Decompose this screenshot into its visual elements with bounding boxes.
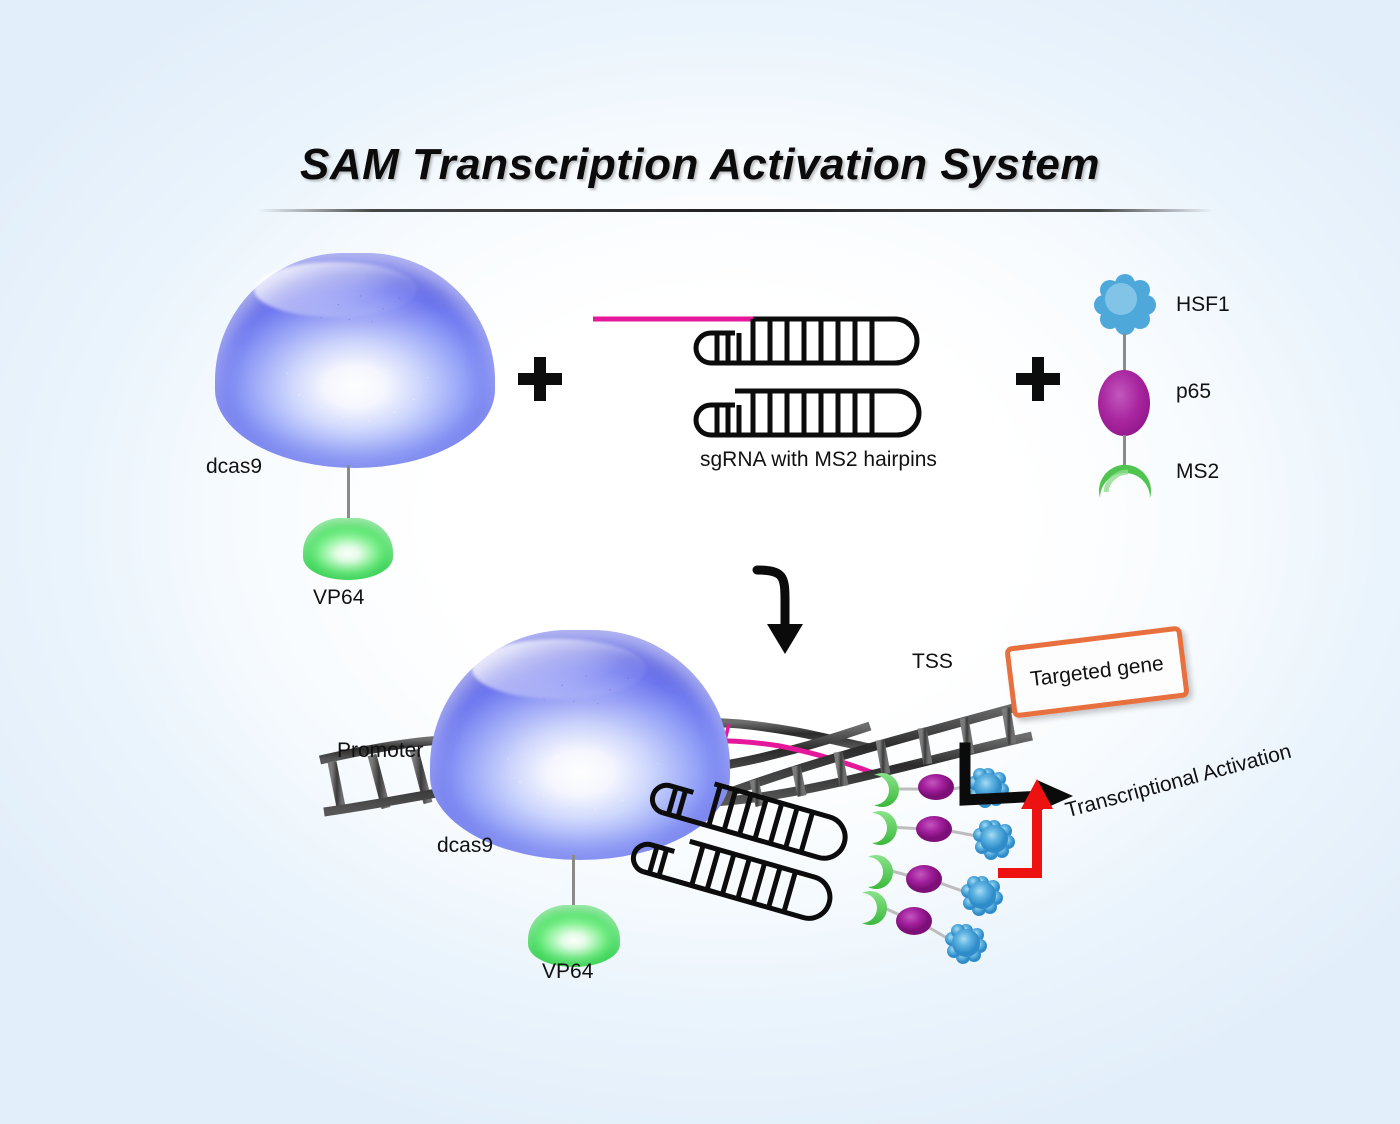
promoter-label: Promoter bbox=[337, 739, 423, 763]
p65-icon bbox=[1098, 370, 1150, 436]
vp64-blob-top bbox=[303, 518, 393, 580]
dcas9-label-bottom: dcas9 bbox=[437, 834, 493, 858]
vp64-label-top: VP64 bbox=[313, 586, 364, 610]
dcas9-speckles-top bbox=[215, 253, 495, 468]
figure-canvas: SAM Transcription Activation System dcas… bbox=[0, 0, 1400, 1124]
tss-label: TSS bbox=[912, 650, 953, 674]
ms2-hairpin-1 bbox=[696, 319, 917, 363]
plus-sign-1 bbox=[518, 357, 562, 401]
vp64-label-bottom: VP64 bbox=[542, 960, 593, 984]
sgrna-caption: sgRNA with MS2 hairpins bbox=[700, 448, 937, 472]
dcas9-label-top: dcas9 bbox=[206, 455, 262, 479]
ms2-icon bbox=[1096, 462, 1152, 518]
hsf1-p65-linker bbox=[1123, 333, 1126, 373]
hsf1-icon bbox=[1095, 274, 1165, 336]
ms2-label: MS2 bbox=[1176, 460, 1219, 484]
p65-label: p65 bbox=[1176, 380, 1211, 404]
figure-title: SAM Transcription Activation System bbox=[0, 140, 1400, 190]
ms2-hairpin-2 bbox=[696, 391, 919, 435]
targeted-gene-label: Targeted gene bbox=[1029, 652, 1165, 692]
plus-sign-2 bbox=[1016, 357, 1060, 401]
title-divider bbox=[258, 209, 1213, 212]
vp64-blob-bottom bbox=[528, 905, 620, 967]
hsf1-label: HSF1 bbox=[1176, 293, 1230, 317]
dcas9-blob-top bbox=[215, 253, 495, 468]
